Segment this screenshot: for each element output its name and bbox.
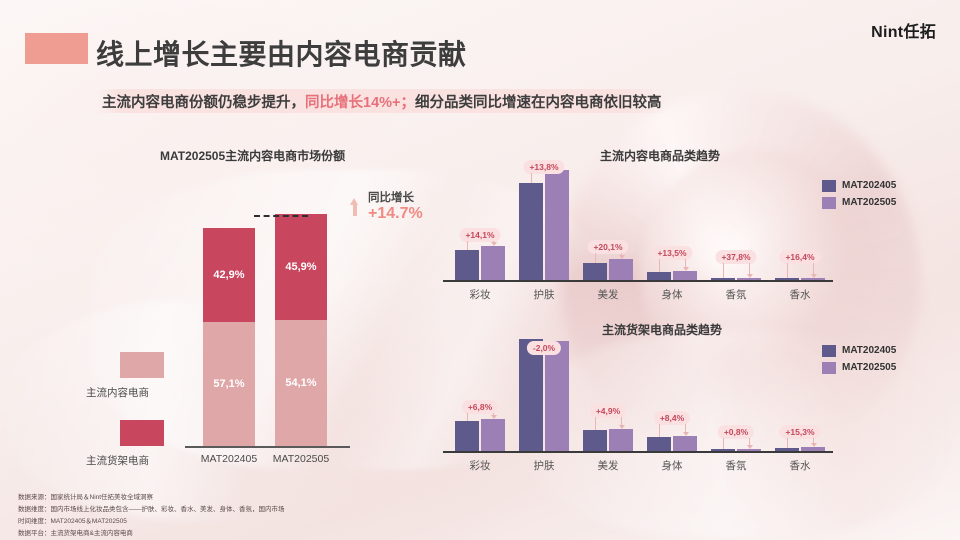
badge-connector-arrow-icon [747,274,753,278]
top-right-chart-title: 主流内容电商品类趋势 [600,147,720,164]
growth-badge: -2,0% [527,341,561,355]
badge-connector-line [749,438,750,445]
title-accent-block [25,33,88,64]
subtitle-part-2: 细分品类同比增速在内容电商依旧较高 [415,91,662,112]
badge-connector-arrow-icon [491,242,497,246]
bottom-right-chart-title: 主流货架电商品类趋势 [602,321,722,338]
legend-swatch [822,345,836,357]
badge-connector-arrow-icon [811,274,817,278]
legend-swatch [120,420,164,446]
stacked-bar-segment-content: 57,1% [203,322,255,446]
badge-connector-arrow-icon [491,415,497,419]
bar-series-mat202405 [711,278,735,280]
bar-series-mat202405 [583,263,607,280]
legend-swatch [822,362,836,374]
bar-series-mat202505 [481,419,505,451]
badge-connector-arrow-icon [619,425,625,429]
bar-series-mat202405 [455,421,479,451]
x-axis-label: 身体 [635,287,709,302]
x-axis-label: 香水 [763,287,837,302]
x-axis-label: 护肤 [507,287,581,302]
footer-line-dimension: 数据维度：国内市场线上化妆品类包含——护肤、彩妆、香水、美发、身体、香氛，国内市… [18,504,285,516]
badge-connector-line [595,417,596,430]
badge-connector-line [595,253,596,263]
badge-connector-line [621,417,622,425]
x-axis-label: 彩妆 [443,287,517,302]
badge-connector-arrow-icon [747,445,753,449]
x-axis-line [443,451,833,453]
growth-badge: +37,8% [715,250,756,264]
growth-badge: +0,8% [718,425,754,439]
legend-swatch [120,352,164,378]
x-axis-label: 美发 [571,458,645,473]
bar-series-mat202505 [609,429,633,451]
growth-badge: +8,4% [654,411,690,425]
bar-series-mat202505 [801,447,825,451]
bar-series-mat202405 [583,430,607,451]
growth-annotation: 同比增长 +14.7% [368,192,423,224]
subtitle-part-1: 主流内容电商份额仍稳步提升， [102,91,305,112]
badge-connector-line [723,438,724,449]
badge-connector-line [467,241,468,250]
subtitle-highlight: 同比增长14%+； [305,91,415,112]
badge-connector-line [723,263,724,278]
legend-label: MAT202405 [842,180,896,191]
badge-connector-line [787,438,788,448]
badge-connector-line [659,424,660,437]
badge-connector-line [749,263,750,274]
x-axis-label: MAT202505 [249,453,353,465]
badge-connector-line [531,173,532,183]
legend-label: 主流内容电商 [86,385,149,400]
comparison-dashed-line [254,215,308,217]
growth-badge: +6,8% [462,400,498,414]
growth-badge: +13,5% [651,246,692,260]
bar-series-mat202405 [647,272,671,280]
legend-swatch [822,180,836,192]
growth-label: 同比增长 [368,192,423,205]
badge-connector-arrow-icon [811,443,817,447]
growth-badge: +14,1% [459,228,500,242]
bar-series-mat202505 [673,436,697,451]
growth-badge: +13,8% [523,160,564,174]
bar-series-mat202505 [673,271,697,280]
footer-notes: 数据来源：国家统计局＆Nint任拓美妆全域洞察 数据维度：国内市场线上化妆品类包… [18,492,285,540]
x-axis-label: 香氛 [699,287,773,302]
x-axis-label: 香水 [763,458,837,473]
subtitle-banner: 主流内容电商份额仍稳步提升，同比增长14%+；细分品类同比增速在内容电商依旧较高 [96,89,668,113]
stacked-bar-segment-shelf: 45,9% [275,214,327,320]
badge-connector-arrow-icon [619,255,625,259]
badge-connector-arrow-icon [683,432,689,436]
stacked-bar-segment-shelf: 42,9% [203,228,255,322]
bar-series-mat202505 [481,246,505,280]
bar-series-mat202405 [775,278,799,280]
footer-line-platform: 数据平台：主流货架电商&主流内容电商 [18,528,285,540]
bar-series-mat202505 [609,259,633,280]
growth-badge: +4,9% [590,404,626,418]
legend-label: MAT202505 [842,362,896,373]
stacked-bar-segment-content: 54,1% [275,320,327,446]
badge-connector-line [813,263,814,274]
x-axis-label: 彩妆 [443,458,517,473]
badge-connector-line [787,263,788,278]
x-axis-label: 身体 [635,458,709,473]
bar-series-mat202405 [519,183,543,280]
bar-series-mat202405 [647,437,671,451]
brand-logo: Nint任拓 [871,18,936,42]
bar-series-mat202505 [545,341,569,451]
growth-up-arrow-icon [350,198,359,216]
x-axis-label: 护肤 [507,458,581,473]
bar-series-mat202405 [775,448,799,451]
x-axis-label: 美发 [571,287,645,302]
badge-connector-arrow-icon [683,267,689,271]
bar-series-mat202505 [737,278,761,280]
bar-series-mat202505 [801,278,825,280]
badge-connector-line [659,259,660,272]
legend-label: MAT202405 [842,345,896,356]
badge-connector-line [685,259,686,267]
bar-series-mat202405 [455,250,479,280]
badge-connector-line [467,413,468,421]
x-axis-line [185,446,350,448]
growth-value: +14.7% [368,205,423,223]
footer-line-period: 时间维度：MAT202405＆MAT202505 [18,516,285,528]
left-chart-title: MAT202505主流内容电商市场份额 [160,147,345,164]
growth-badge: +15,3% [779,425,820,439]
legend-label: MAT202505 [842,197,896,208]
bar-series-mat202405 [519,339,543,451]
x-axis-line [443,280,833,282]
badge-connector-line [685,424,686,432]
growth-badge: +16,4% [779,250,820,264]
legend-label: 主流货架电商 [86,453,149,468]
bar-series-mat202505 [545,170,569,280]
x-axis-label: 香氛 [699,458,773,473]
slide-canvas: 线上增长主要由内容电商贡献 Nint任拓 主流内容电商份额仍稳步提升，同比增长1… [0,0,960,540]
bar-series-mat202405 [711,449,735,451]
page-title: 线上增长主要由内容电商贡献 [96,33,467,73]
growth-badge: +20,1% [587,240,628,254]
footer-line-source: 数据来源：国家统计局＆Nint任拓美妆全域洞察 [18,492,285,504]
bar-series-mat202505 [737,449,761,451]
legend-swatch [822,197,836,209]
